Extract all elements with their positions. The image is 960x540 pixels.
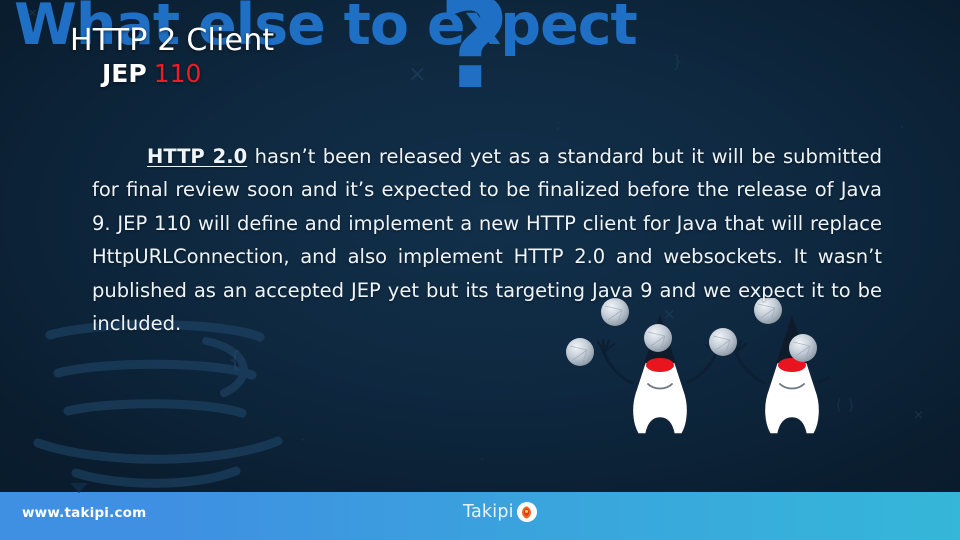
footer-arrow-icon: [70, 483, 88, 493]
java-coffee-cup-watermark-icon: [10, 315, 310, 495]
decorative-symbol: (: [836, 396, 842, 414]
takipi-mascot-icon: [517, 502, 537, 522]
body-highlight-term: HTTP 2.0: [147, 145, 247, 168]
subtitle-number: 110: [154, 59, 202, 88]
decorative-symbol: ·: [300, 430, 305, 449]
decorative-symbol: ): [848, 396, 854, 414]
title-block: HTTP 2 Client JEP110: [70, 24, 274, 88]
watermark-question-mark: ?: [438, 0, 510, 107]
brand-logo: Takipi: [463, 502, 537, 522]
subtitle-label: JEP: [102, 59, 147, 88]
body-paragraph-text: hasn’t been released yet as a standard b…: [92, 145, 882, 335]
decorative-symbol: ×: [408, 62, 426, 87]
presentation-slide: What else to expect ? ×××××{}();···· HTT…: [0, 0, 960, 540]
decorative-symbol: ·: [480, 452, 484, 468]
decorative-symbol: {: [228, 348, 242, 373]
subtitle: JEP110: [70, 60, 274, 88]
decorative-symbol: ×: [913, 408, 924, 423]
decorative-symbol: }: [672, 52, 683, 72]
page-title: HTTP 2 Client: [70, 24, 274, 58]
decorative-symbol: ;: [556, 118, 560, 133]
brand-name: Takipi: [463, 502, 514, 522]
footer-bar: www.takipi.com Takipi: [0, 492, 960, 540]
decorative-symbol: ·: [900, 120, 904, 136]
footer-website-url[interactable]: www.takipi.com: [22, 505, 146, 521]
body-paragraph: HTTP 2.0 hasn’t been released yet as a s…: [92, 140, 882, 340]
